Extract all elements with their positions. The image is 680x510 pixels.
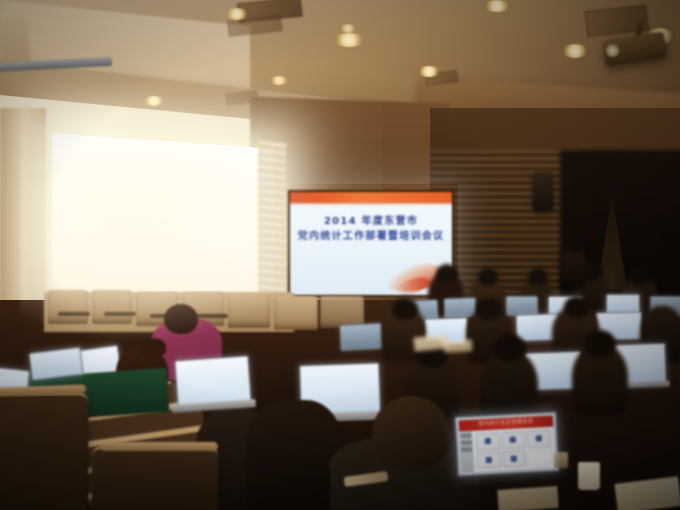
- chair-back: [0, 392, 88, 510]
- ceiling-downlight: [226, 8, 248, 20]
- conference-room-photo: 2014 年度东营市 党内统计工作部署暨培训会议: [0, 0, 680, 510]
- presenter-head: [566, 240, 581, 254]
- chair-armrest: [196, 314, 228, 318]
- ceiling-downlight: [334, 33, 364, 47]
- chair-armrest: [58, 312, 90, 316]
- chair-rail: [100, 442, 218, 451]
- ceiling-downlight: [418, 66, 440, 77]
- empty-chair: [228, 294, 270, 328]
- laptop: [174, 356, 249, 407]
- attendee-head: [630, 266, 652, 286]
- ceiling-downlight: [340, 24, 356, 33]
- desk-item: [554, 452, 568, 468]
- empty-chair: [274, 296, 318, 330]
- attendee-head: [528, 268, 548, 286]
- ceiling-downlight: [562, 44, 588, 58]
- laptop-lid: 党内统计信息管理系统: [453, 410, 560, 477]
- app-tile[interactable]: [475, 432, 499, 450]
- attendee-head: [436, 264, 458, 284]
- standing-presenter: [560, 248, 586, 288]
- attendee-head: [164, 304, 198, 334]
- slide: 2014 年度东营市 党内统计工作部署暨培训会议: [290, 192, 452, 295]
- tile-icon: [485, 438, 491, 444]
- tile-icon: [536, 435, 542, 441]
- window-blind: [258, 141, 286, 312]
- slide-header-band: [290, 192, 452, 203]
- ceiling-mounted-device: [0, 17, 33, 81]
- laptop: [606, 294, 638, 313]
- tile-icon: [510, 437, 516, 443]
- app-body: [459, 427, 555, 473]
- laptop: [29, 347, 82, 379]
- ceiling-downlight: [144, 96, 164, 106]
- attendee-head: [478, 268, 498, 286]
- tile-icon: [485, 457, 491, 463]
- empty-chair: [92, 290, 132, 324]
- slide-header-shadow: [290, 203, 452, 206]
- app-tile[interactable]: [527, 430, 551, 448]
- attendee-head: [564, 296, 590, 318]
- laptop: [506, 296, 536, 314]
- attendee-head: [584, 330, 616, 358]
- app-tile-empty: [528, 448, 552, 466]
- chair-back: [92, 446, 218, 510]
- slide-title-line-1: 2014 年度东营市: [290, 214, 452, 229]
- sidebar-menu-item[interactable]: [461, 440, 472, 446]
- wall-speaker: [533, 172, 553, 210]
- attendee-hair-bun: [140, 338, 166, 356]
- slide-title-block: 2014 年度东营市 党内统计工作部署暨培训会议: [290, 214, 452, 244]
- laptop: [339, 323, 380, 349]
- sidebar-menu-item[interactable]: [461, 447, 472, 453]
- app-tile[interactable]: [501, 431, 526, 449]
- app-tile[interactable]: [476, 451, 500, 469]
- ceiling-downlight: [270, 76, 288, 85]
- attendee-head: [494, 334, 526, 362]
- empty-chair: [48, 290, 88, 324]
- app-tile-grid: [472, 427, 555, 472]
- projection-screen: 2014 年度东营市 党内统计工作部署暨培训会议: [288, 190, 454, 297]
- tile-icon: [511, 455, 517, 461]
- app-tile[interactable]: [502, 450, 527, 468]
- chair-armrest: [104, 312, 136, 316]
- attendee-head: [372, 396, 450, 470]
- paper-cup: [578, 462, 600, 490]
- statistics-software-window[interactable]: 党内统计信息管理系统: [459, 416, 556, 473]
- attendee-head: [392, 298, 418, 320]
- paper-documents: [444, 339, 473, 352]
- attendee-head: [476, 298, 502, 320]
- foreground-laptop[interactable]: 党内统计信息管理系统: [453, 410, 560, 477]
- paper-documents: [497, 486, 558, 510]
- attendee: [246, 400, 342, 510]
- laptop: [444, 297, 475, 316]
- projector-lens-icon: [606, 44, 619, 57]
- slide-title-line-2: 党内统计工作部署暨培训会议: [290, 229, 452, 244]
- sidebar-menu-item[interactable]: [460, 433, 471, 439]
- ceiling-downlight: [484, 0, 510, 12]
